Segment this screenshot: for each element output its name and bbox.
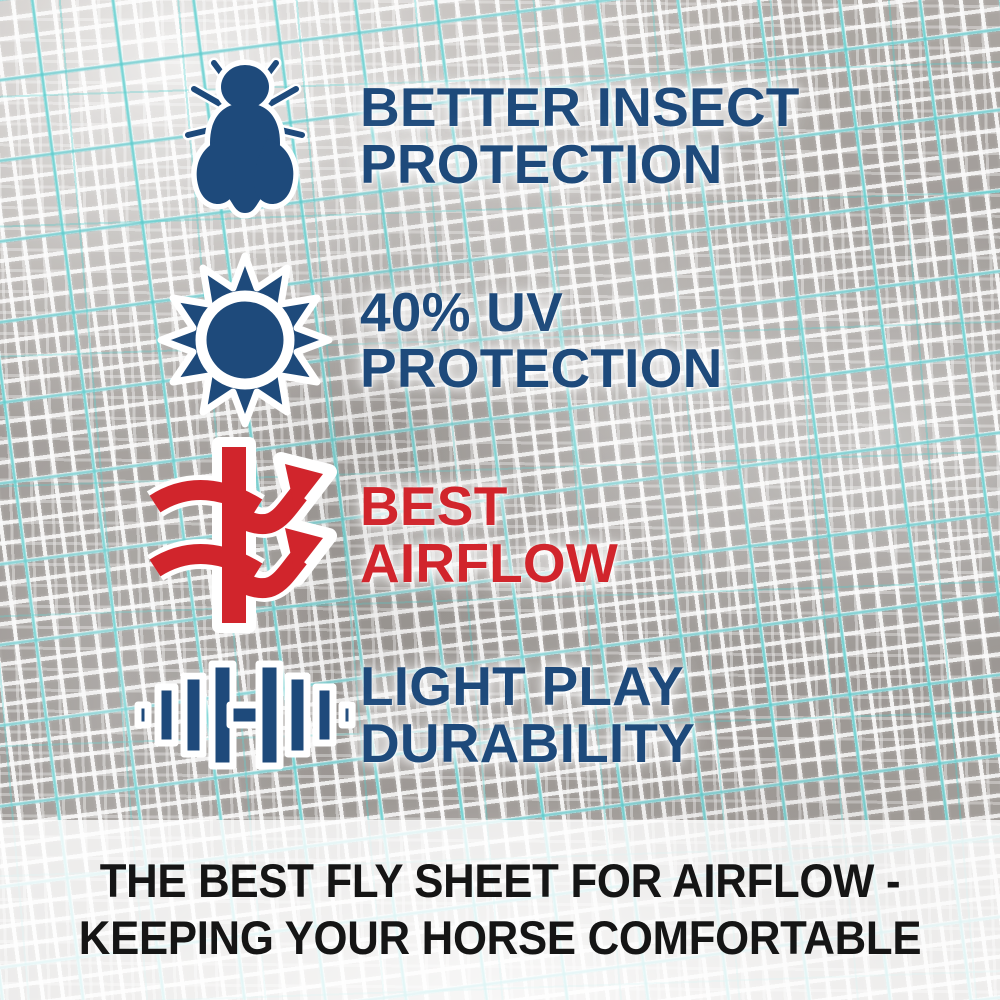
feature-label-insect-protection: BETTER INSECT PROTECTION [360,79,940,191]
airflow-arrows-icon [141,442,349,628]
sun-icon [159,254,331,426]
feature-item-durability: LIGHT PLAY DURABILITY [130,632,940,797]
feature-icon-slot [130,442,360,628]
feature-label-uv-protection: 40% UV PROTECTION [360,284,940,396]
feature-item-uv-protection: 40% UV PROTECTION [130,245,940,435]
feature-item-airflow: BEST AIRFLOW [130,437,940,632]
caption-text-block: THE BEST FLY SHEET FOR AIRFLOW - KEEPING… [35,820,965,1000]
caption-line-1: THE BEST FLY SHEET FOR AIRFLOW - [100,854,901,909]
dumbbell-icon [134,654,356,776]
feature-label-airflow: BEST AIRFLOW [360,478,940,590]
feature-icon-slot [130,654,360,776]
caption-band: THE BEST FLY SHEET FOR AIRFLOW - KEEPING… [0,820,1000,1000]
feature-icon-slot [130,43,360,228]
caption-line-2: KEEPING YOUR HORSE COMFORTABLE [79,911,921,966]
feature-item-insect-protection: BETTER INSECT PROTECTION [130,28,940,243]
feature-icon-slot [130,254,360,426]
product-feature-poster: BETTER INSECT PROTECTION 40% UV PROTECTI… [0,0,1000,1000]
feature-list: BETTER INSECT PROTECTION 40% UV PROTECTI… [0,0,1000,820]
fly-icon [170,43,320,228]
feature-label-durability: LIGHT PLAY DURABILITY [360,658,940,770]
